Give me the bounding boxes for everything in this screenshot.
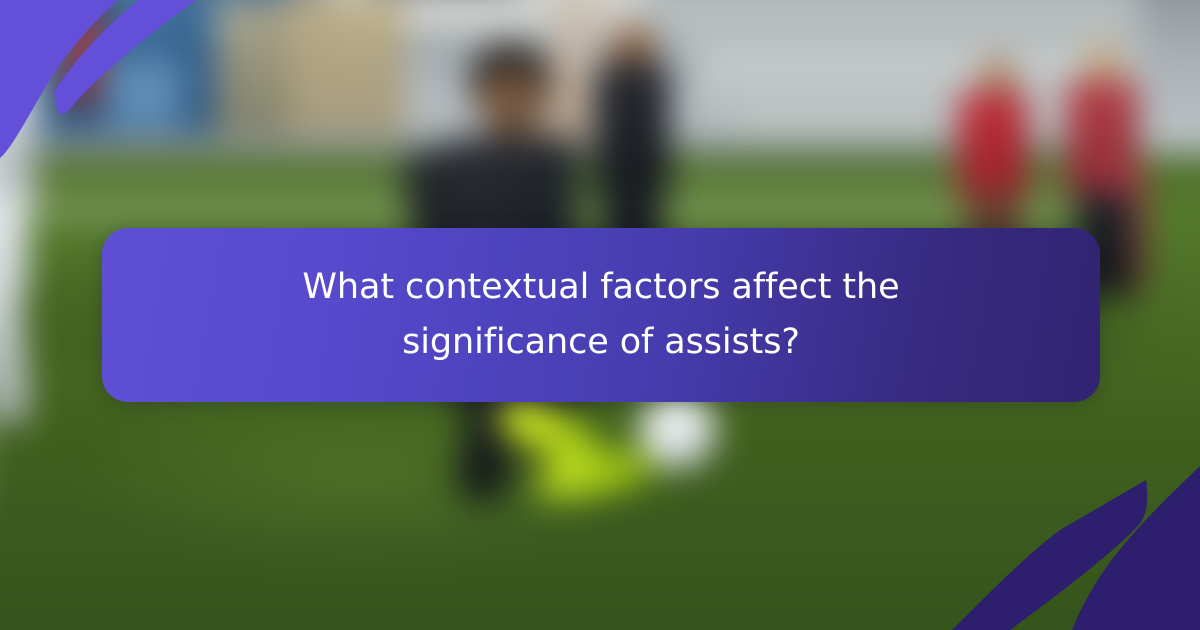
question-card: What contextual factors affect the signi… <box>102 228 1100 402</box>
swoosh-top-left-main <box>0 0 118 158</box>
question-text: What contextual factors affect the signi… <box>281 260 921 371</box>
share-banner: What contextual factors affect the signi… <box>0 0 1200 630</box>
